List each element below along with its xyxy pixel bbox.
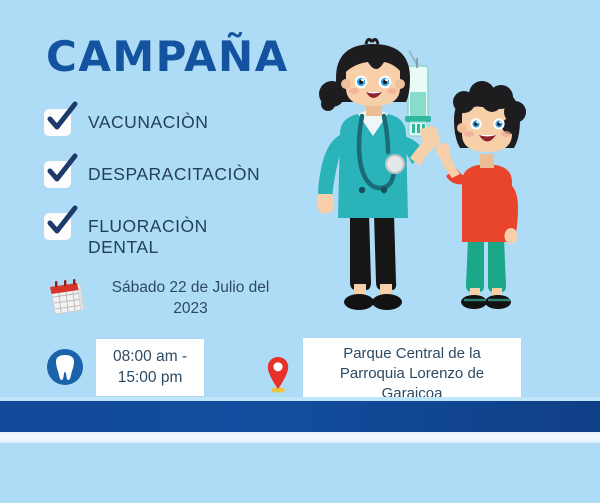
- map-pin-icon: [265, 354, 291, 394]
- list-item-label: FLUORACIÒN DENTAL: [88, 210, 208, 259]
- syringe-icon: [405, 51, 431, 136]
- footer: Organiza: Sub-Centro de Salud de Lorenzo…: [0, 443, 600, 503]
- campaign-poster: CAMPAÑA VACUNACIÒN DESPARACITACIÒN: [0, 0, 600, 503]
- time-row: 08:00 am - 15:00 pm: [45, 339, 204, 396]
- services-checklist: VACUNACIÒN DESPARACITACIÒN FLUORACIÒN DE…: [44, 106, 294, 277]
- child-character: [436, 81, 526, 309]
- calendar-icon: [44, 279, 86, 319]
- list-item: VACUNACIÒN: [44, 106, 294, 140]
- time-text: 08:00 am - 15:00 pm: [96, 339, 204, 396]
- list-item: FLUORACIÒN DENTAL: [44, 210, 294, 259]
- checkmark-icon: [44, 161, 71, 188]
- list-item: DESPARACITACIÒN: [44, 158, 294, 192]
- page-title: CAMPAÑA: [46, 36, 289, 78]
- divider-white-strip: [0, 432, 600, 443]
- illustration: [296, 36, 564, 326]
- date-text: Sábado 22 de Julio del 2023: [98, 278, 283, 320]
- divider-blue-band: [0, 401, 600, 432]
- list-item-label: DESPARACITACIÒN: [88, 158, 260, 185]
- checkmark-icon: [44, 109, 71, 136]
- checkmark-icon: [44, 213, 71, 240]
- date-row: Sábado 22 de Julio del 2023: [44, 278, 283, 320]
- list-item-label: VACUNACIÒN: [88, 106, 208, 133]
- tooth-icon: [45, 347, 85, 387]
